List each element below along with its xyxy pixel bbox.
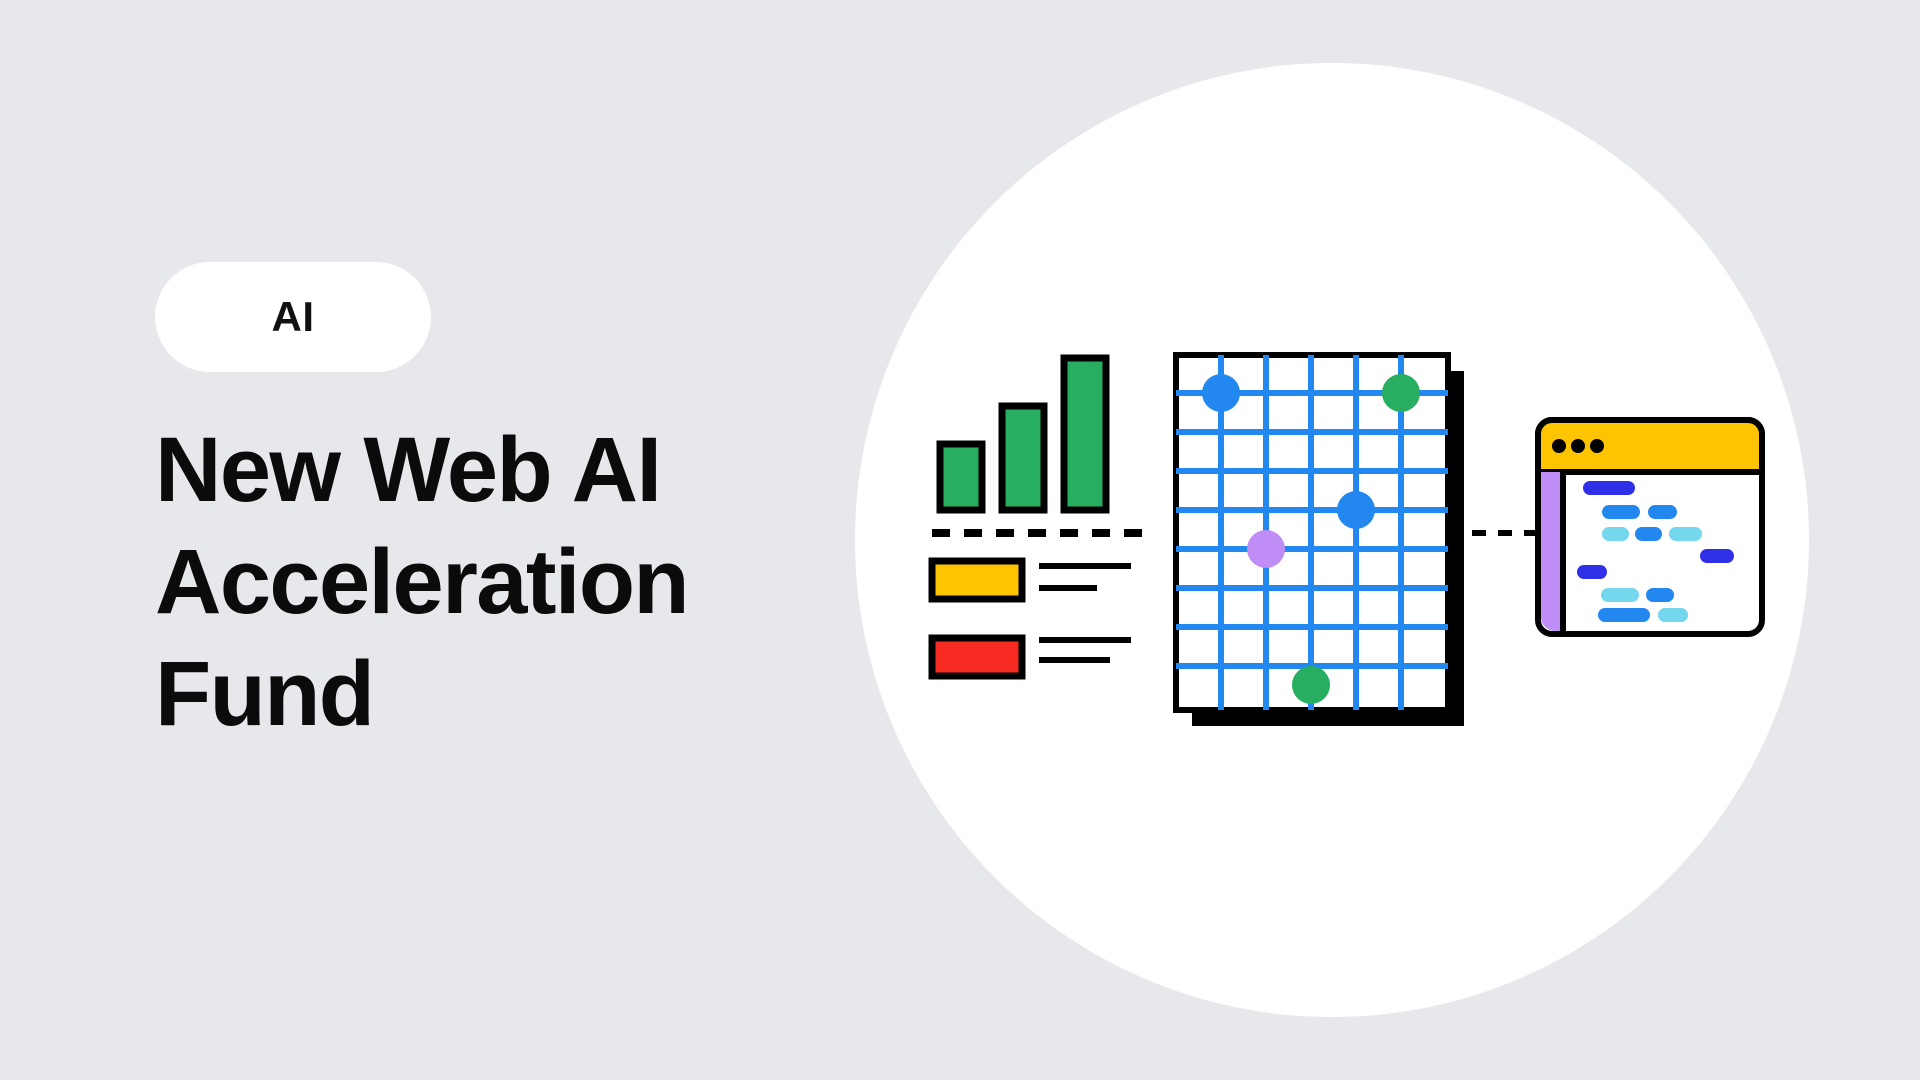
code-line-token xyxy=(1646,588,1674,602)
window-dot-icon[interactable] xyxy=(1552,439,1566,453)
code-line-token xyxy=(1602,505,1640,519)
window-dot-icon[interactable] xyxy=(1590,439,1604,453)
code-line-token xyxy=(1602,527,1629,541)
code-line-token xyxy=(1658,608,1688,622)
legend-swatch-red xyxy=(932,638,1022,676)
bar-2 xyxy=(1002,406,1044,510)
legend-swatch-yellow xyxy=(932,561,1022,599)
point-green-1 xyxy=(1382,374,1420,412)
legend-list xyxy=(932,561,1131,676)
legend-item-yellow xyxy=(932,561,1131,599)
code-line-token xyxy=(1635,527,1662,541)
code-line-token xyxy=(1601,588,1639,602)
bar-3 xyxy=(1064,358,1106,510)
illustration-artwork xyxy=(0,0,1920,1080)
code-line-token xyxy=(1583,481,1635,495)
code-line-token xyxy=(1669,527,1702,541)
bar-1 xyxy=(940,444,982,510)
page-root: AI New Web AI Acceleration Fund xyxy=(0,0,1920,1080)
legend-item-red xyxy=(932,638,1131,676)
growth-bar-chart xyxy=(940,358,1106,510)
scatter-grid-plot xyxy=(1176,355,1464,726)
window-dot-icon[interactable] xyxy=(1571,439,1585,453)
code-line-token xyxy=(1648,505,1677,519)
hero-illustration xyxy=(0,0,1920,1080)
code-line-token xyxy=(1577,565,1607,579)
point-purple-1 xyxy=(1247,530,1285,568)
code-editor-window[interactable] xyxy=(1538,420,1762,634)
code-window-sidebar xyxy=(1541,472,1563,631)
point-green-2 xyxy=(1292,666,1330,704)
point-blue-2 xyxy=(1337,491,1375,529)
point-blue-1 xyxy=(1202,374,1240,412)
code-line-token xyxy=(1700,549,1734,563)
code-line-token xyxy=(1598,608,1650,622)
